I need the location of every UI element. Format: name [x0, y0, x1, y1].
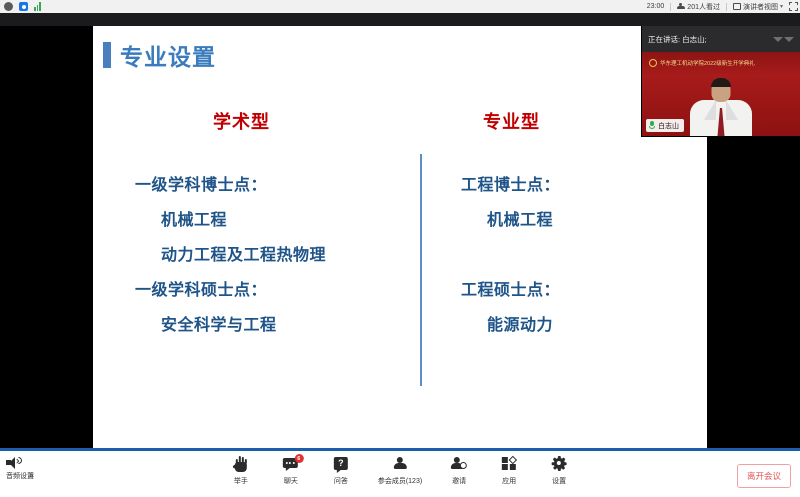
- column-heading-academic: 学术型: [213, 108, 270, 134]
- event-banner: 华东理工机动学院2022级新生开学典礼: [649, 59, 795, 67]
- meeting-top-bar: [0, 13, 800, 26]
- speaker-video-thumbnail[interactable]: 正在讲话: 白志山; 华东理工机动学院2022级新生开学典礼 白志山: [642, 26, 800, 136]
- university-seal-icon: [649, 59, 657, 67]
- apps-label: 应用: [502, 476, 516, 486]
- chevron-up-icon[interactable]: ^: [30, 473, 34, 482]
- group-label: 工程博士点：: [461, 171, 560, 195]
- qa-label: 问答: [334, 476, 348, 486]
- chat-icon: 6: [282, 454, 299, 473]
- settings-button[interactable]: 设置: [546, 454, 572, 486]
- participant-name-tag: 白志山: [646, 119, 684, 132]
- qa-button[interactable]: ? 问答: [328, 454, 354, 486]
- slide-title: 专业设置: [103, 38, 216, 72]
- chat-label: 聊天: [284, 476, 298, 486]
- apps-button[interactable]: 应用: [496, 454, 522, 486]
- group-item: 能源动力: [461, 311, 560, 335]
- toolbar-tools: 举手 6 聊天 ? 问答 参会成员(123): [228, 454, 572, 486]
- group-professional-doctoral: 工程博士点： 机械工程: [461, 171, 560, 230]
- screen-layout-icon: [733, 3, 741, 10]
- group-item: 机械工程: [135, 206, 326, 230]
- audio-row: [6, 456, 22, 469]
- group-label: 工程硕士点：: [461, 276, 560, 300]
- fullscreen-icon[interactable]: [789, 2, 798, 11]
- speaker-figure: [688, 78, 754, 136]
- speaker-icon: [6, 456, 22, 469]
- group-academic-doctoral: 一级学科博士点： 机械工程 动力工程及工程热物理: [135, 171, 326, 265]
- apps-icon: [502, 454, 517, 473]
- invite-button[interactable]: 邀请: [446, 454, 472, 486]
- audio-settings-control[interactable]: 音频设置 ^: [6, 456, 86, 482]
- slide-title-text: 专业设置: [120, 38, 216, 72]
- group-item: 机械工程: [461, 206, 560, 230]
- column-heading-professional: 专业型: [483, 108, 540, 134]
- group-item: 安全科学与工程: [135, 311, 277, 335]
- leave-meeting-button[interactable]: 离开会议: [737, 464, 791, 488]
- title-accent-bar: [103, 42, 111, 68]
- participants-label: 参会成员(123): [378, 476, 422, 486]
- people-icon: [677, 3, 685, 10]
- participant-name: 白志山: [658, 121, 679, 131]
- shared-screen-stage: 专业设置 学术型 专业型 一级学科博士点： 机械工程 动力工程及工程热物理 一级…: [0, 26, 800, 448]
- browser-icon[interactable]: [19, 2, 28, 11]
- group-item: 动力工程及工程热物理: [135, 241, 326, 265]
- settings-label: 设置: [552, 476, 566, 486]
- column-divider: [420, 154, 422, 386]
- chat-unread-badge: 6: [294, 454, 303, 463]
- video-feed: 华东理工机动学院2022级新生开学典礼 白志山: [642, 52, 800, 136]
- signal-bars-icon[interactable]: [34, 2, 43, 11]
- settings-gear-icon: [552, 454, 567, 473]
- shield-icon[interactable]: [4, 2, 13, 11]
- group-label: 一级学科博士点：: [135, 171, 326, 195]
- top-bar-right-group: 23:00 201人看过 演讲者视图 ▾: [647, 0, 798, 13]
- participants-button[interactable]: 参会成员(123): [378, 454, 422, 486]
- viewer-count[interactable]: 201人看过: [677, 2, 720, 12]
- invite-label: 邀请: [452, 476, 466, 486]
- raise-hand-label: 举手: [234, 476, 248, 486]
- event-banner-text: 华东理工机动学院2022级新生开学典礼: [660, 59, 755, 67]
- invite-icon: [451, 454, 467, 473]
- raise-hand-button[interactable]: 举手: [228, 454, 254, 486]
- speaker-hair: [711, 78, 731, 87]
- toolbar-accent-line: [0, 448, 800, 451]
- viewer-count-label: 201人看过: [687, 2, 720, 12]
- view-mode-label: 演讲者视图: [743, 2, 778, 12]
- view-mode-selector[interactable]: 演讲者视图 ▾: [733, 2, 783, 12]
- group-academic-master: 一级学科硕士点： 安全科学与工程: [135, 276, 277, 335]
- divider: [670, 3, 671, 11]
- group-professional-master: 工程硕士点： 能源动力: [461, 276, 560, 335]
- raise-hand-icon: [234, 454, 248, 473]
- meeting-timer-value: 23:00: [647, 3, 665, 10]
- qa-icon: ?: [334, 454, 348, 473]
- participants-icon: [393, 454, 407, 473]
- meeting-timer: 23:00: [647, 3, 665, 10]
- divider: [726, 3, 727, 11]
- collapse-thumbnail-icon[interactable]: [773, 37, 794, 42]
- presentation-slide: 专业设置 学术型 专业型 一级学科博士点： 机械工程 动力工程及工程热物理 一级…: [93, 26, 707, 481]
- microphone-icon: [649, 121, 655, 130]
- speaking-indicator-label: 正在讲话: 白志山;: [648, 34, 707, 45]
- chat-button[interactable]: 6 聊天: [278, 454, 304, 486]
- meeting-bottom-toolbar: 音频设置 ^ 举手 6 聊天 ?: [0, 448, 800, 497]
- thumbnail-header: 正在讲话: 白志山;: [642, 26, 800, 52]
- chevron-down-icon: ▾: [780, 3, 783, 10]
- group-label: 一级学科硕士点：: [135, 276, 277, 300]
